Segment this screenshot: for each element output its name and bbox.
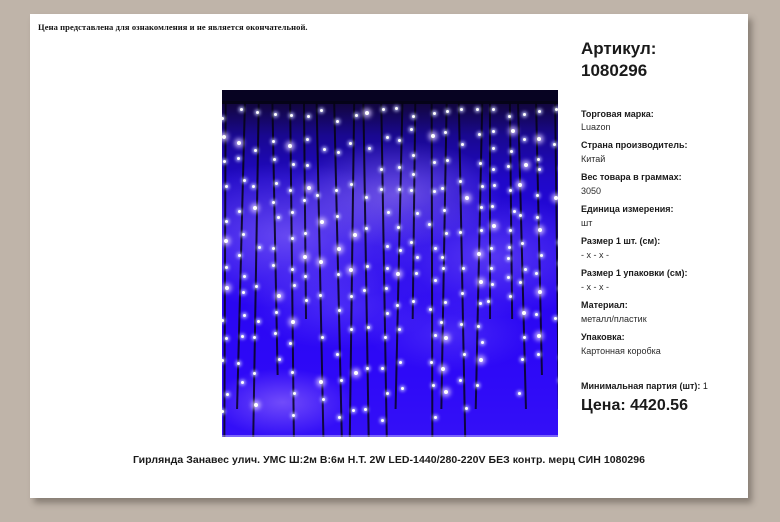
led-lamp — [355, 114, 358, 117]
led-lamp — [305, 299, 308, 302]
led-lamp — [225, 220, 228, 223]
led-lamp — [291, 237, 294, 240]
led-lamp — [523, 336, 526, 339]
led-lamp — [364, 408, 367, 411]
led-lamp — [463, 353, 466, 356]
led-lamp — [410, 128, 413, 131]
spec-key: Размер 1 шт. (см): — [581, 235, 746, 249]
led-lamp — [433, 112, 436, 115]
led-lamp — [412, 115, 415, 118]
led-lamp — [518, 392, 521, 395]
led-lamp — [433, 190, 436, 193]
led-lamp — [242, 233, 245, 236]
price-row: Цена: 4420.56 — [581, 397, 746, 415]
led-lamp — [509, 295, 512, 298]
led-lamp — [386, 267, 389, 270]
led-lamp — [492, 168, 495, 171]
led-lamp — [258, 246, 261, 249]
led-strand — [554, 102, 558, 409]
led-lamp — [381, 419, 384, 422]
led-lamp — [254, 403, 258, 407]
spec-key: Упаковка: — [581, 331, 746, 345]
led-lamp — [386, 245, 389, 248]
led-lamp — [368, 147, 371, 150]
spec-key: Вес товара в граммах: — [581, 171, 746, 185]
led-lamp — [277, 294, 281, 298]
led-lamp — [537, 334, 541, 338]
led-lamp — [363, 289, 366, 292]
led-lamp — [431, 134, 435, 138]
led-strand — [489, 102, 491, 319]
led-lamp — [252, 185, 255, 188]
led-lamp — [537, 137, 541, 141]
led-lamp — [445, 232, 448, 235]
product-photo-led-curtain — [222, 90, 558, 437]
led-lamp — [242, 291, 245, 294]
led-lamp — [412, 300, 415, 303]
product-info-column: Артикул: 1080296 Торговая марка:LuazonСт… — [581, 38, 746, 415]
led-lamp — [508, 115, 511, 118]
led-lamp — [398, 166, 401, 169]
spec-value: Картонная коробка — [581, 345, 746, 359]
led-lamp — [304, 275, 307, 278]
led-lamp — [385, 287, 388, 290]
led-lamp — [240, 108, 243, 111]
led-lamp — [336, 215, 339, 218]
led-lamp — [540, 254, 543, 257]
led-lamp — [536, 194, 539, 197]
led-strand — [252, 102, 259, 437]
led-lamp — [479, 358, 483, 362]
led-lamp — [365, 111, 369, 115]
spec-value: Китай — [581, 153, 746, 167]
led-lamp — [241, 381, 244, 384]
led-lamp — [278, 358, 281, 361]
led-lamp — [222, 319, 224, 322]
led-lamp — [492, 130, 495, 133]
led-lamp — [291, 211, 294, 214]
led-lamp — [272, 140, 275, 143]
led-lamp — [480, 229, 483, 232]
led-lamp — [304, 232, 307, 235]
led-lamp — [410, 241, 413, 244]
led-lamp — [273, 158, 276, 161]
led-lamp — [395, 107, 398, 110]
led-lamp — [399, 361, 402, 364]
led-lamp — [237, 157, 240, 160]
price-label: Цена: — [581, 397, 626, 414]
led-lamp — [460, 323, 463, 326]
led-lamp — [322, 398, 325, 401]
led-lamp — [521, 242, 524, 245]
led-lamp — [272, 247, 275, 250]
led-lamp — [289, 189, 292, 192]
led-lamp — [272, 201, 275, 204]
led-strand — [316, 102, 325, 437]
led-lamp — [253, 336, 256, 339]
led-lamp — [307, 115, 310, 118]
led-lamp — [398, 188, 401, 191]
led-lamp — [396, 304, 399, 307]
led-lamp — [523, 113, 526, 116]
led-lamp — [521, 358, 524, 361]
led-lamp — [293, 392, 296, 395]
led-lamp — [274, 113, 277, 116]
led-lamp — [223, 160, 226, 163]
led-lamp — [352, 409, 355, 412]
product-image-frame — [221, 89, 559, 438]
photo-bottom-edge — [222, 435, 558, 437]
led-lamp — [291, 268, 294, 271]
led-lamp — [399, 249, 402, 252]
led-lamp — [320, 220, 324, 224]
led-lamp — [255, 285, 258, 288]
led-lamp — [237, 362, 240, 365]
specification-list: Торговая марка:LuazonСтрана производител… — [581, 108, 746, 359]
led-lamp — [444, 336, 448, 340]
led-lamp — [459, 231, 462, 234]
spec-value: - x - x - — [581, 249, 746, 263]
led-lamp — [478, 133, 481, 136]
product-caption: Гирлянда Занавес улич. УМС Ш:2м В:6м Н.Т… — [30, 454, 748, 466]
price-value: 4420.56 — [630, 397, 688, 414]
spec-key: Материал: — [581, 299, 746, 313]
led-strand — [517, 102, 527, 409]
led-lamp — [518, 183, 522, 187]
led-lamp — [253, 372, 256, 375]
led-lamp — [349, 142, 352, 145]
led-lamp — [442, 267, 445, 270]
led-lamp — [306, 164, 309, 167]
led-lamp — [490, 267, 493, 270]
led-lamp — [508, 246, 511, 249]
led-lamp — [524, 268, 527, 271]
led-lamp — [292, 414, 295, 417]
led-lamp — [434, 334, 437, 337]
led-lamp — [444, 390, 448, 394]
led-lamp — [387, 211, 390, 214]
led-lamp — [415, 272, 418, 275]
led-lamp — [365, 196, 368, 199]
led-lamp — [412, 173, 415, 176]
led-lamp — [398, 328, 401, 331]
sku-value: 1080296 — [581, 60, 746, 82]
led-lamp — [366, 265, 369, 268]
led-lamp — [225, 185, 228, 188]
led-lamp — [274, 332, 277, 335]
led-lamp — [353, 233, 357, 237]
led-lamp — [477, 252, 481, 256]
led-lamp — [509, 189, 512, 192]
led-lamp — [350, 328, 353, 331]
led-lamp — [476, 108, 479, 111]
led-lamp — [538, 110, 541, 113]
led-lamp — [303, 255, 307, 259]
led-lamp — [538, 290, 542, 294]
led-lamp — [493, 184, 496, 187]
led-lamp — [257, 320, 260, 323]
led-lamp — [479, 280, 483, 284]
led-lamp — [401, 387, 404, 390]
led-lamp — [323, 148, 326, 151]
document-sheet: Цена представлена для ознакомления и не … — [30, 14, 748, 498]
led-lamp — [535, 272, 538, 275]
led-lamp — [538, 228, 542, 232]
led-lamp — [336, 353, 339, 356]
led-lamp — [337, 151, 340, 154]
spec-value: - x - x - — [581, 281, 746, 295]
led-lamp — [292, 163, 295, 166]
led-lamp — [465, 196, 469, 200]
led-lamp — [397, 226, 400, 229]
led-lamp — [224, 239, 228, 243]
led-lamp — [510, 150, 513, 153]
led-lamp — [254, 149, 257, 152]
led-lamp — [434, 279, 437, 282]
led-lamp — [443, 209, 446, 212]
led-lamp — [238, 254, 241, 257]
led-lamp — [243, 314, 246, 317]
led-lamp — [460, 108, 463, 111]
led-lamp — [367, 326, 370, 329]
led-lamp — [382, 108, 385, 111]
led-lamp — [490, 247, 493, 250]
led-lamp — [480, 206, 483, 209]
led-lamp — [319, 260, 323, 264]
led-lamp — [272, 264, 275, 267]
led-lamp — [538, 168, 541, 171]
led-lamp — [381, 367, 384, 370]
led-lamp — [535, 313, 538, 316]
led-lamp — [338, 416, 341, 419]
spec-value: Luazon — [581, 121, 746, 135]
led-strand — [411, 102, 416, 319]
led-lamp — [321, 336, 324, 339]
led-lamp — [433, 161, 436, 164]
led-lamp — [384, 336, 387, 339]
led-lamp — [241, 335, 244, 338]
led-lamp — [275, 182, 278, 185]
led-lamp — [444, 131, 447, 134]
led-lamp — [555, 108, 558, 111]
led-strand — [302, 102, 306, 319]
led-lamp — [465, 407, 468, 410]
led-lamp — [492, 108, 495, 111]
led-lamp — [226, 393, 229, 396]
led-lamp — [536, 216, 539, 219]
led-lamp — [337, 247, 341, 251]
led-lamp — [462, 267, 465, 270]
led-lamp — [461, 143, 464, 146]
sku-heading: Артикул: 1080296 — [581, 38, 746, 82]
led-lamp — [366, 367, 369, 370]
led-lamp — [243, 275, 246, 278]
led-lamp — [537, 158, 540, 161]
led-lamp — [522, 311, 526, 315]
led-lamp — [434, 416, 437, 419]
led-lamp — [459, 379, 462, 382]
led-lamp — [307, 186, 311, 190]
led-lamp — [430, 361, 433, 364]
led-lamp — [386, 392, 389, 395]
led-lamp — [492, 147, 495, 150]
led-lamp — [446, 159, 449, 162]
led-lamp — [491, 205, 494, 208]
led-lamp — [524, 163, 528, 167]
led-lamp — [320, 109, 323, 112]
led-lamp — [459, 180, 462, 183]
led-lamp — [476, 384, 479, 387]
led-lamp — [511, 129, 515, 133]
led-lamp — [446, 110, 449, 113]
spec-key: Страна производитель: — [581, 139, 746, 153]
minimum-lot-label: Минимальная партия (шт): — [581, 381, 700, 391]
led-lamp — [340, 379, 343, 382]
led-lamp — [396, 272, 400, 276]
led-lamp — [336, 120, 339, 123]
led-lamp — [291, 320, 295, 324]
led-strand — [223, 102, 226, 437]
led-lamp — [290, 114, 293, 117]
led-lamp — [429, 308, 432, 311]
led-lamp — [434, 247, 437, 250]
led-lamp — [306, 138, 309, 141]
led-lamp — [523, 138, 526, 141]
led-lamp — [225, 286, 229, 290]
led-lamp — [354, 371, 358, 375]
led-strand — [362, 102, 369, 437]
price-disclaimer: Цена представлена для ознакомления и не … — [38, 22, 308, 32]
led-lamp — [441, 367, 445, 371]
spec-value: 3050 — [581, 185, 746, 199]
led-lamp — [225, 266, 228, 269]
minimum-lot-value: 1 — [703, 381, 708, 391]
led-lamp — [337, 273, 340, 276]
led-strand — [431, 102, 434, 437]
led-lamp — [338, 309, 341, 312]
led-lamp — [416, 212, 419, 215]
led-lamp — [477, 325, 480, 328]
led-lamp — [293, 284, 296, 287]
led-lamp — [416, 256, 419, 259]
led-lamp — [432, 384, 435, 387]
spec-key: Единица измерения: — [581, 203, 746, 217]
led-lamp — [481, 185, 484, 188]
led-lamp — [491, 283, 494, 286]
led-lamp — [237, 141, 241, 145]
spec-key: Торговая марка: — [581, 108, 746, 122]
spec-value: шт — [581, 217, 746, 231]
led-lamp — [492, 224, 496, 228]
led-lamp — [513, 210, 516, 213]
led-lamp — [481, 341, 484, 344]
led-lamp — [243, 179, 246, 182]
led-lamp — [554, 317, 557, 320]
led-lamp — [225, 337, 228, 340]
led-lamp — [479, 302, 482, 305]
minimum-lot-row: Минимальная партия (шт): 1 — [581, 381, 746, 391]
led-lamp — [365, 227, 368, 230]
led-lamp — [350, 295, 353, 298]
led-lamp — [386, 136, 389, 139]
led-lamp — [277, 216, 280, 219]
spec-value: металл/пластик — [581, 313, 746, 327]
sku-label: Артикул: — [581, 39, 656, 58]
led-lamp — [386, 312, 389, 315]
spec-key: Размер 1 упаковки (см): — [581, 267, 746, 281]
